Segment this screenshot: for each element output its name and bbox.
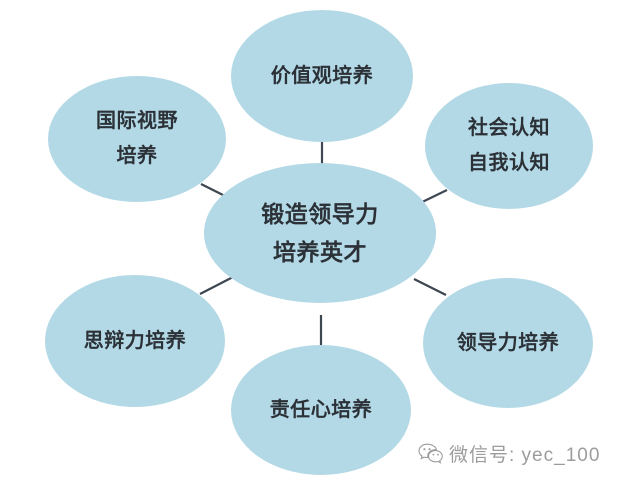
center-node[interactable] xyxy=(204,163,436,303)
connector-leadership-cultivation xyxy=(414,279,446,295)
connector-critical-thinking xyxy=(200,277,233,294)
watermark-text: 微信号: yec_100 xyxy=(449,440,600,467)
diagram-graphics xyxy=(0,0,640,490)
watermark: 微信号: yec_100 xyxy=(418,440,600,467)
wechat-icon xyxy=(418,443,444,465)
ellipse-group xyxy=(45,10,593,475)
diagram-canvas: 价值观培养国际视野培养社会认知自我认知领导力培养责任心培养思辩力培养锻造领导力培… xyxy=(0,0,640,490)
node-social-self-awareness[interactable] xyxy=(425,83,593,209)
node-critical-thinking[interactable] xyxy=(45,275,225,407)
node-global-vision[interactable] xyxy=(48,76,226,202)
node-responsibility-cultivation[interactable] xyxy=(231,345,411,475)
node-value-cultivation[interactable] xyxy=(231,10,413,142)
node-leadership-cultivation[interactable] xyxy=(423,278,593,408)
